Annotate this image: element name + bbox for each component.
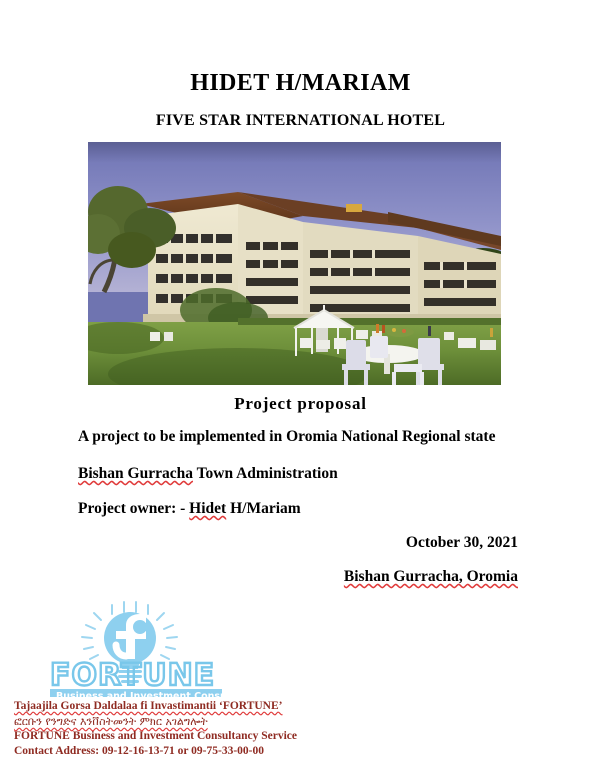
logo-tagline-text: Business and Investment Consultancy xyxy=(56,691,228,697)
hotel-photograph xyxy=(88,142,501,385)
footer-line-amharic: ፎርቡን የንግድና እንቨስትመንት ምክር አገልግሎት xyxy=(14,714,574,729)
proposal-body: A project to be implemented in Oromia Na… xyxy=(78,426,518,519)
footer-line-contact-address: Contact Address: 09-12-16-13-71 or 09-75… xyxy=(14,744,574,759)
body-line-project-owner: Project owner: - Hidet H/Mariam xyxy=(78,498,518,519)
date-location-block: October 30, 2021 Bishan Gurracha, Oromia xyxy=(78,532,518,587)
footer-line-english: FORTUNE Business and Investment Consulta… xyxy=(14,729,574,744)
body-line-town-administration: Bishan Gurracha Town Administration xyxy=(78,463,518,484)
document-page: HIDET H/MARIAM FIVE STAR INTERNATIONAL H… xyxy=(0,0,601,776)
fortune-logo: FORTUNE Business and Investment Consulta… xyxy=(36,601,228,697)
page-subtitle: FIVE STAR INTERNATIONAL HOTEL xyxy=(0,112,601,130)
fortune-wordmark: FORTUNE xyxy=(50,658,215,693)
town-name: Bishan Gurracha xyxy=(78,465,193,482)
proposal-date: October 30, 2021 xyxy=(78,532,518,553)
page-title: HIDET H/MARIAM xyxy=(0,70,601,97)
town-administration-suffix: Town Administration xyxy=(193,465,338,482)
body-line-project-scope: A project to be implemented in Oromia Na… xyxy=(78,426,518,447)
project-owner-label: Project owner: - xyxy=(78,500,189,517)
footer-contact-block: Tajaajila Gorsa Daldalaa fi Invastimanti… xyxy=(14,699,574,759)
fortune-logo-graphic: FORTUNE Business and Investment Consulta… xyxy=(36,601,228,697)
proposal-location: Bishan Gurracha, Oromia xyxy=(78,566,518,587)
proposal-heading: Project proposal xyxy=(0,394,601,414)
project-owner-name-suffix: H/Mariam xyxy=(226,500,300,517)
footer-line-oromo: Tajaajila Gorsa Daldalaa fi Invastimanti… xyxy=(14,699,574,714)
project-owner-name: Hidet xyxy=(189,500,226,517)
proposal-location-text: Bishan Gurracha, Oromia xyxy=(344,568,518,585)
hotel-photo-illustration xyxy=(88,142,501,385)
